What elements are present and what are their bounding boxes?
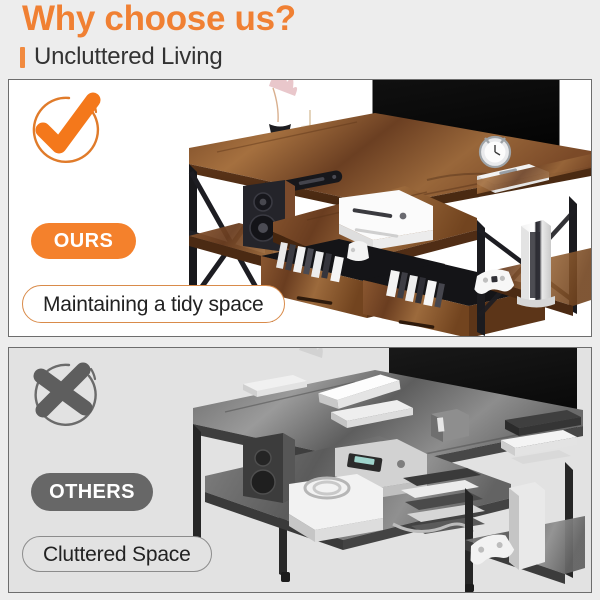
- check-badge: [23, 88, 107, 172]
- page-title: Why choose us?: [22, 1, 296, 36]
- check-icon: [23, 88, 107, 172]
- accent-bar-icon: [20, 47, 25, 68]
- caption-ours: Maintaining a tidy space: [22, 285, 285, 323]
- subtitle-row: Uncluttered Living: [20, 45, 223, 69]
- caption-others: Cluttered Space: [22, 536, 212, 572]
- badge-ours: OURS: [31, 223, 136, 259]
- cross-icon: [23, 356, 107, 440]
- panel-others: OTHERS Cluttered Space: [8, 347, 592, 593]
- panel-ours: OURS Maintaining a tidy space: [8, 79, 592, 337]
- header: Why choose us? Uncluttered Living: [0, 0, 600, 78]
- cross-badge: [23, 356, 107, 440]
- badge-others: OTHERS: [31, 473, 153, 511]
- page-subtitle: Uncluttered Living: [34, 45, 223, 69]
- product-image-others: [179, 348, 591, 592]
